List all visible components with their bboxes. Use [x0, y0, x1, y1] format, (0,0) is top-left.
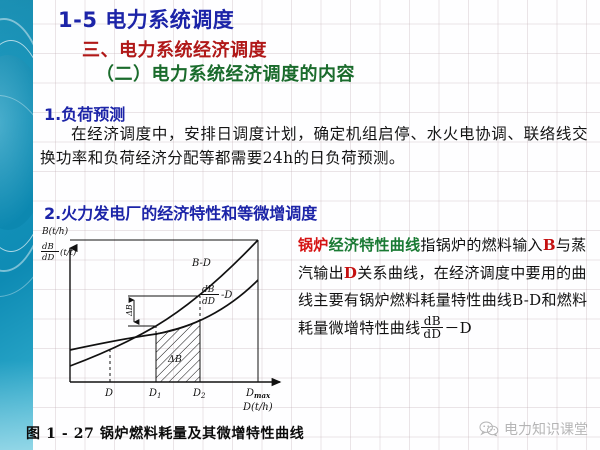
fraction-numerator: dB — [421, 315, 443, 328]
xtick-D1: D1 — [148, 388, 162, 400]
svg-text:dB: dB — [202, 285, 215, 295]
wechat-icon — [479, 421, 499, 437]
curve-label-B-D: B-D — [191, 258, 211, 269]
svg-text:-D: -D — [221, 290, 232, 301]
xtick-D2: D2 — [192, 388, 206, 400]
y-axis-label-dBdD: dB dD (t/t) — [41, 242, 76, 263]
decorative-sidebar — [0, 0, 33, 450]
x-axis-label: D(t/h) — [242, 402, 273, 413]
xtick-D: D — [104, 388, 113, 399]
xtick-Dmax: Dmax — [245, 388, 271, 400]
figure-caption: 图 1 - 27 锅炉燃料耗量及其微增特性曲线 — [26, 423, 304, 443]
svg-text:(t/t): (t/t) — [60, 247, 76, 258]
y-axis-label-B: B(t/h) — [41, 226, 69, 237]
watermark: 电力知识课堂 — [479, 419, 588, 439]
boiler-fuel-consumption-chart: B(t/h) dB dD (t/t) B-D dB dD -D ΔB ΔB — [40, 222, 292, 418]
chart-svg: B(t/h) dB dD (t/t) B-D dB dD -D ΔB ΔB — [40, 222, 292, 418]
explain-fraction-dBdD: dBdD — [421, 315, 443, 340]
label-delta-B-arrow: ΔB — [125, 304, 134, 317]
load-forecast-paragraph: 在经济调度中，安排日调度计划，确定机组启停、水火电协调、联络线交换功率和负荷经济… — [40, 122, 588, 170]
item-heading-2: 2.火力发电厂的经济特性和等微增调度 — [44, 200, 317, 224]
watermark-text: 电力知识课堂 — [504, 419, 588, 439]
svg-text:dB: dB — [42, 242, 54, 252]
explain-seg-boiler: 锅炉 — [298, 236, 329, 254]
explain-var-D: D — [344, 264, 357, 282]
svg-text:dD: dD — [202, 297, 215, 307]
explain-seg-1: 指锅炉的燃料输入 — [420, 236, 542, 254]
explain-var-B: B — [543, 236, 556, 254]
explanation-text: 锅炉经济特性曲线指锅炉的燃料输入B与蒸汽输出D关系曲线，在经济调度中要用的曲线主… — [298, 232, 598, 342]
page-title: 1-5 电力系统调度 — [58, 4, 234, 34]
svg-text:dD: dD — [42, 253, 54, 263]
section-heading: 三、电力系统经济调度 — [82, 36, 267, 62]
label-delta-B-area: ΔB — [167, 354, 182, 365]
subsection-heading: （二）电力系统经济调度的内容 — [96, 60, 355, 86]
explain-seg-4: －D — [444, 319, 472, 337]
fraction-denominator: dD — [421, 328, 443, 340]
slide-canvas: 1-5 电力系统调度 三、电力系统经济调度 （二）电力系统经济调度的内容 1.负… — [0, 0, 600, 450]
curve-label-dBdD-D: dB dD -D — [201, 285, 232, 307]
explain-seg-curve: 经济特性曲线 — [329, 236, 421, 254]
